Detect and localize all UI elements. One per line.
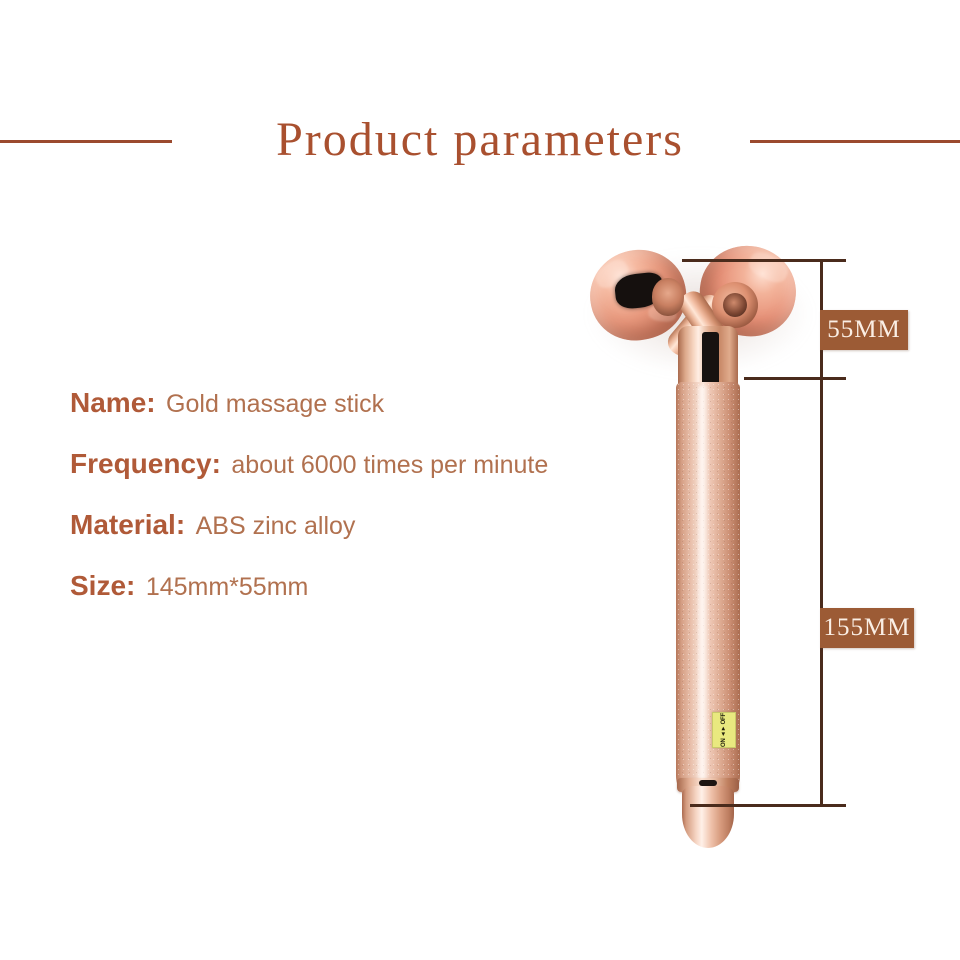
switch-arrow-icon: ◄► (716, 726, 732, 737)
dimension-tick-bottom (690, 804, 846, 807)
roller-hub-left (652, 278, 684, 316)
spec-value-frequency: about 6000 times per minute (231, 451, 548, 479)
dimension-tick-top (682, 259, 846, 262)
spec-label-material: Material: (70, 509, 185, 540)
spec-value-name: Gold massage stick (166, 390, 384, 418)
spec-label-frequency: Frequency: (70, 448, 221, 479)
roller-hub-right-inner (723, 293, 747, 317)
dimension-badge-length: 155MM (820, 608, 914, 648)
product-image: ON ◄► OFF (560, 230, 840, 820)
switch-off-label: OFF (716, 713, 732, 724)
product-tip (682, 786, 734, 848)
spec-value-size: 145mm*55mm (146, 573, 309, 601)
title-band: Product parameters (0, 104, 960, 178)
spec-label-size: Size: (70, 570, 135, 601)
spec-label-name: Name: (70, 387, 156, 418)
page-title: Product parameters (0, 104, 960, 176)
switch-on-label: ON (716, 738, 732, 747)
handle-highlight (696, 386, 709, 796)
dimension-badge-width: 55MM (820, 310, 908, 350)
power-switch-sticker: ON ◄► OFF (712, 712, 736, 748)
power-switch-sticker-text: ON ◄► OFF (716, 713, 732, 747)
dimension-tick-middle (744, 377, 846, 380)
spec-value-material: ABS zinc alloy (196, 512, 356, 540)
product-parameters-infographic: Product parameters Name: Gold massage st… (0, 0, 960, 960)
